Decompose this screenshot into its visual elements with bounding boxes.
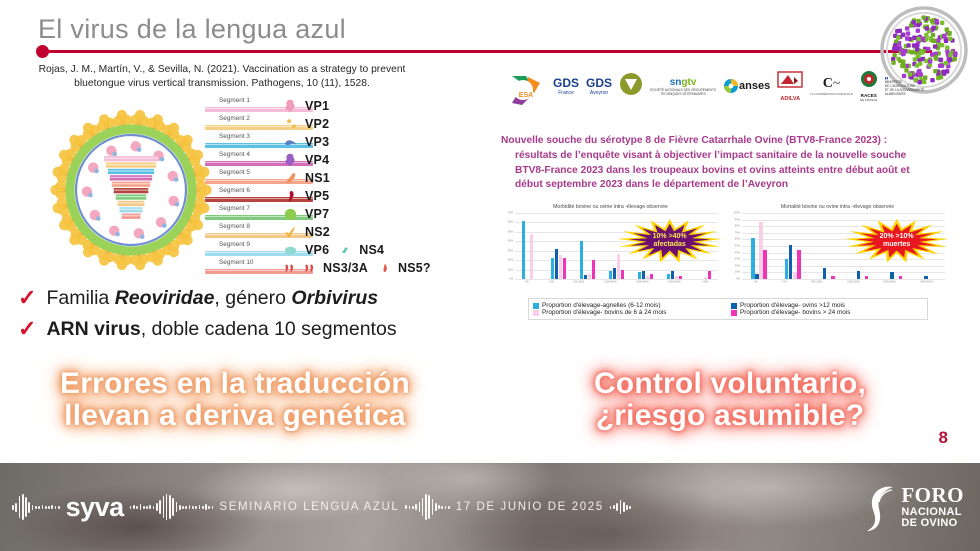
protein-row: VP3	[283, 133, 483, 151]
page-title: El virus de la lengua azul	[38, 14, 346, 45]
protein-vp5-icon	[283, 189, 298, 204]
bar	[890, 272, 894, 279]
waveform-bar	[130, 506, 132, 509]
x-tick-label: [30%;40%[	[921, 280, 933, 291]
legend-swatch	[731, 310, 737, 316]
chart-1: Morbidité bovine ou ovine intra -élevage…	[501, 204, 720, 292]
bar	[559, 255, 563, 280]
bar	[530, 234, 534, 279]
protein-name: VP1	[305, 99, 329, 113]
report-title: Nouvelle souche du sérotype 8 de Fièvre …	[501, 134, 947, 193]
y-tick-label: 10%	[735, 271, 740, 274]
waveform-bar	[38, 506, 40, 509]
title-divider	[42, 50, 932, 53]
bar	[642, 271, 646, 279]
waveform-bar	[613, 505, 615, 509]
legend-label: Proportion d'élevage- bovins de 6 à 24 m…	[542, 309, 667, 316]
logo-row: ESAGDSFranceGDSAveyronsngtvSOCIÉTÉ NATIO…	[506, 64, 946, 108]
bullet-item: ✓Familia Reoviridae, género Orbivirus	[18, 286, 397, 310]
annotation-line-1: 10% >40%	[653, 233, 687, 241]
segment-label: Segment 5	[219, 169, 250, 176]
protein-name: VP7	[305, 207, 329, 221]
waveform-bar	[409, 506, 411, 509]
foro-line-1: FORO	[901, 485, 964, 506]
protein-row: VP6NS4	[283, 241, 483, 259]
annotation-text: 10% >40%afectadas	[653, 233, 687, 250]
headline-left-line-2: llevan a deriva genética	[20, 400, 450, 432]
waveform-bar	[55, 506, 57, 509]
bar	[613, 268, 617, 279]
protein-name: NS3/3A	[323, 261, 368, 275]
protein-ns3-3a-icon	[303, 262, 316, 275]
legend-label: Proportion d'élevage- bovins > 24 mois	[740, 309, 850, 316]
chart-annotation-burst: 10% >40%afectadas	[615, 218, 725, 264]
y-tick-label: 20%	[735, 264, 740, 267]
bar-group	[551, 213, 567, 279]
y-tick-label: 70%	[508, 212, 513, 215]
x-tick-label: [10%;20%[	[604, 280, 616, 291]
report-title-line: BTV8-France 2023 dans les troupeaux bovi…	[501, 164, 947, 179]
waveform-bar	[140, 504, 142, 510]
segment-label: Segment 6	[219, 187, 250, 194]
legend-swatch	[533, 310, 539, 316]
bar	[592, 260, 596, 279]
y-tick-label: 50%	[735, 245, 740, 248]
chart-2: Mortalité bovine ou ovine intra -élevage…	[728, 204, 947, 292]
protein-ns2-icon	[283, 225, 298, 240]
waveform-bar	[12, 505, 14, 510]
waveform-bar	[208, 506, 210, 509]
anses-logo: anses	[723, 77, 770, 95]
legend-item: Proportion d'élevage- ovins >12 mois	[731, 302, 923, 309]
waveform-bar	[212, 506, 214, 509]
gds-france-logo: GDSFrance	[553, 76, 579, 96]
extra-protein-name: NS4	[359, 243, 384, 257]
bar	[609, 271, 613, 279]
x-tick-label: [20%;30%[	[884, 280, 896, 291]
annotation-line-2: afectadas	[653, 241, 687, 249]
legend-item: Proportion d'élevage- bovins de 6 à 24 m…	[533, 309, 725, 316]
chart-legend: Proportion d'élevage-agnelles (6-12 mois…	[528, 298, 928, 320]
chart-title: Morbidité bovine ou ovine intra -élevage…	[501, 204, 720, 210]
bar	[865, 276, 869, 279]
waveform-bar	[182, 506, 184, 509]
waveform-bar	[32, 505, 34, 510]
protein-vp6-icon	[283, 243, 298, 258]
waveform-bar	[19, 496, 21, 518]
waveform-bar	[35, 506, 37, 509]
waveform-bar	[133, 505, 135, 509]
legend-label: Proportion d'élevage-agnelles (6-12 mois…	[542, 302, 660, 309]
waveform-mid-2	[405, 492, 449, 522]
waveform-bar	[441, 506, 443, 509]
protein-row: NS2	[283, 223, 483, 241]
waveform-bar	[149, 505, 151, 509]
waveform-bar	[163, 496, 165, 518]
protein-name: VP2	[305, 117, 329, 131]
waveform-bar	[626, 505, 628, 510]
waveform-bar	[156, 503, 158, 511]
chart-annotation-burst: 20% >10%muertes	[842, 218, 952, 264]
protein-name: VP3	[305, 135, 329, 149]
protein-vp2-icon	[283, 117, 298, 132]
y-tick-label: 60%	[508, 221, 513, 224]
waveform-bar	[202, 506, 204, 509]
x-tick-label: 0%	[525, 280, 529, 291]
syva-logo: syva	[66, 492, 124, 523]
protein-vp7-icon	[283, 207, 298, 222]
headline-right-line-2: ¿riesgo asumible?	[530, 400, 930, 432]
bar	[671, 271, 675, 279]
protein-name: VP4	[305, 153, 329, 167]
virus-particle-diagram	[44, 98, 219, 283]
waveform-bar	[412, 506, 414, 509]
bar	[899, 276, 903, 279]
waveform-bar	[616, 503, 618, 511]
waveform-bar	[435, 503, 437, 511]
waveform-bar	[143, 506, 145, 509]
segment-label: Segment 7	[219, 205, 250, 212]
waveform-bar	[629, 506, 631, 509]
protein-row: VP4	[283, 151, 483, 169]
check-icon: ✓	[18, 287, 36, 309]
y-tick-label: 90%	[735, 218, 740, 221]
bullet-item: ✓ARN virus, doble cadena 10 segmentos	[18, 317, 397, 341]
annotation-text: 20% >10%muertes	[880, 233, 914, 250]
report-title-line: résultats de l’enquête visant à objectiv…	[501, 149, 947, 164]
x-tick-label: [20%;30%[	[637, 280, 649, 291]
waveform-bar	[51, 505, 53, 509]
report-title-line: Nouvelle souche du sérotype 8 de Fièvre …	[501, 134, 947, 149]
x-axis: 0%< 5%[5%;10%[[10%;20%[[20%;30%[[30%;40%…	[742, 280, 945, 292]
bar-group	[522, 213, 538, 279]
headline-left-line-1: Errores en la traducción	[20, 368, 450, 400]
x-tick-label: > 60%	[701, 280, 708, 291]
protein-name: NS2	[305, 225, 330, 239]
segment-label: Segment 1	[219, 97, 250, 104]
bar	[797, 250, 801, 279]
waveform-bar	[179, 505, 181, 510]
bar	[793, 272, 797, 279]
ministere-logo: ▮▮MINISTÈREDE L'AGRICULTUREET DE LA SOUV…	[885, 76, 925, 96]
protein-row: VP7	[283, 205, 483, 223]
waveform-bar	[205, 504, 207, 510]
x-tick-label: < 5%	[782, 280, 788, 291]
bar	[551, 258, 555, 279]
legend-item: Proportion d'élevage-agnelles (6-12 mois…	[533, 302, 725, 309]
legend-swatch	[533, 303, 539, 309]
waveform-bar	[405, 505, 407, 509]
bullet-text: Familia Reoviridae, género Orbivirus	[46, 287, 378, 310]
citation: Rojas, J. M., Martín, V., & Sevilla, N. …	[22, 63, 422, 91]
waveform-bar	[428, 495, 430, 519]
y-tick-label: 80%	[735, 225, 740, 228]
legend-swatch	[731, 303, 737, 309]
legend-row: Proportion d'élevage-agnelles (6-12 mois…	[533, 302, 923, 309]
bar	[704, 277, 708, 279]
waveform-bar	[22, 494, 24, 520]
chart-row: Morbidité bovine ou ovine intra -élevage…	[501, 204, 947, 294]
x-tick-label: [40%;50%[	[669, 280, 681, 291]
waveform-bar	[28, 502, 30, 513]
report-title-line: début septembre 2023 dans le département…	[501, 178, 947, 193]
bar	[759, 222, 763, 279]
bullet-text: ARN virus, doble cadena 10 segmentos	[46, 318, 396, 341]
waveform-bar	[169, 495, 171, 519]
protein-vp1-icon	[283, 99, 298, 114]
bar-group	[785, 213, 801, 279]
bar-group	[819, 213, 835, 279]
bar	[563, 258, 567, 279]
x-tick-label: [10%;20%[	[847, 280, 859, 291]
waveform-bar	[25, 497, 27, 517]
waveform-bar	[189, 505, 191, 509]
bar	[751, 238, 755, 279]
waveform-bar	[136, 506, 138, 509]
annotation-line-2: muertes	[880, 241, 914, 249]
bar	[667, 274, 671, 279]
protein-vp4-icon	[283, 153, 298, 168]
annotation-line-1: 20% >10%	[880, 233, 914, 241]
y-axis: 0%10%20%30%40%50%60%70%	[501, 213, 514, 279]
bar	[522, 221, 526, 279]
protein-ns4-icon	[340, 244, 352, 256]
y-tick-label: 40%	[735, 251, 740, 254]
protein-ns5--icon	[379, 262, 391, 274]
protein-vp3-icon	[283, 135, 298, 150]
bar	[584, 275, 588, 279]
check-icon: ✓	[18, 318, 36, 340]
waveform-bar	[620, 500, 622, 514]
bar	[924, 276, 928, 279]
waveform-bar	[45, 506, 47, 509]
protein-ns1-icon	[283, 171, 298, 186]
waveform-bar	[185, 506, 187, 509]
sngtv-logo: sngtvSOCIÉTÉ NATIONALE DES GROUPEMENTSTE…	[650, 77, 716, 96]
races-de-france-logo: RACESDE FRANCE	[860, 70, 878, 102]
waveform-bar	[199, 505, 201, 509]
citation-line-1: Rojas, J. M., Martín, V., & Sevilla, N. …	[39, 64, 406, 75]
protein-row: VP5	[283, 187, 483, 205]
x-tick-label: [5%;10%[	[812, 280, 823, 291]
waveform-bar	[448, 506, 450, 509]
segment-label: Segment 2	[219, 115, 250, 122]
waveform-bar	[195, 506, 197, 509]
waveform-bar	[432, 499, 434, 515]
protein-row: NS1	[283, 169, 483, 187]
bar	[679, 276, 683, 279]
bar	[555, 249, 559, 279]
bar	[638, 272, 642, 279]
bar	[580, 241, 584, 279]
bar	[785, 259, 789, 279]
waveform-bar	[445, 506, 447, 509]
waveform-bar	[192, 506, 194, 509]
segment-label: Segment 10	[219, 259, 253, 266]
y-axis: 0%10%20%30%40%50%60%70%80%90%100%	[728, 213, 741, 279]
waveform-bar	[438, 505, 440, 509]
bar	[588, 274, 592, 279]
waveform-bar	[176, 502, 178, 512]
slide: El virus de la lengua azul Rojas, J. M.,…	[0, 0, 980, 551]
bar	[675, 276, 679, 279]
bullet-list: ✓Familia Reoviridae, género Orbivirus✓AR…	[18, 286, 397, 348]
bar	[831, 276, 835, 279]
bar	[857, 271, 861, 279]
bar	[650, 274, 654, 279]
report-panel: ESAGDSFranceGDSAveyronsngtvSOCIÉTÉ NATIO…	[496, 62, 948, 342]
waveform-bar	[166, 494, 168, 520]
footer-bar: syva SEMINARIO LENGUA AZUL 17 DE JUNIO D…	[0, 463, 980, 551]
y-tick-label: 0%	[509, 278, 513, 281]
bar	[823, 268, 827, 279]
legend-item: Proportion d'élevage- bovins > 24 mois	[731, 309, 923, 316]
headline-right-line-1: Control voluntario,	[530, 368, 930, 400]
title-divider-dot	[36, 45, 49, 58]
waveform-bar	[623, 502, 625, 512]
gds-aveyron-logo: GDSAveyron	[586, 76, 612, 96]
protein-name: VP6	[305, 243, 329, 257]
foro-line-3: DE OVINO	[901, 518, 964, 529]
segment-label: Segment 3	[219, 133, 250, 140]
footer-date: 17 DE JUNIO DE 2025	[456, 501, 604, 513]
bar	[708, 271, 712, 279]
x-tick-label: [5%;10%[	[574, 280, 585, 291]
bar	[621, 270, 625, 279]
waveform-right	[610, 492, 631, 522]
bar	[763, 250, 767, 279]
bar	[646, 276, 650, 279]
extra-protein-name: NS5?	[398, 261, 431, 275]
coop-logo: C~LA COOPÉRATION AGRICOLE	[810, 76, 852, 96]
protein-name: VP5	[305, 189, 329, 203]
y-tick-label: 50%	[508, 230, 513, 233]
y-tick-label: 40%	[508, 240, 513, 243]
protein-row: NS3/3ANS5?	[283, 259, 483, 277]
waveform-bar	[159, 500, 161, 514]
footer-event: SEMINARIO LENGUA AZUL	[219, 501, 399, 513]
foro-nacional-de-ovino-logo: FORO NACIONAL DE OVINO	[863, 481, 968, 533]
segment-label: Segment 4	[219, 151, 250, 158]
legend-row: Proportion d'élevage- bovins de 6 à 24 m…	[533, 309, 923, 316]
waveform-bar	[58, 506, 60, 509]
protein-name: NS1	[305, 171, 330, 185]
citation-line-2: bluetongue virus vertical transmission. …	[74, 78, 370, 89]
y-tick-label: 30%	[735, 258, 740, 261]
y-tick-label: 30%	[508, 249, 513, 252]
bar	[755, 274, 759, 279]
waveform-bar	[153, 506, 155, 509]
headline-left: Errores en la traducción llevan a deriva…	[20, 368, 450, 433]
sheep-icon	[863, 481, 897, 533]
v-logo	[619, 72, 643, 101]
y-tick-label: 10%	[508, 268, 513, 271]
chart-title: Mortalité bovine ou ovine intra -élevage…	[728, 204, 947, 210]
waveform-bar	[425, 494, 427, 520]
y-tick-label: 60%	[735, 238, 740, 241]
bar-group	[751, 213, 767, 279]
waveform-bar	[42, 505, 44, 509]
waveform-bar	[48, 506, 50, 509]
x-axis: 0%< 5%[5%;10%[[10%;20%[[20%;30%[[40%;50%…	[515, 280, 718, 292]
protein-row: VP1	[283, 97, 483, 115]
headline-right: Control voluntario, ¿riesgo asumible?	[530, 368, 930, 433]
x-tick-label: 0%	[754, 280, 758, 291]
waveform-left	[12, 492, 60, 522]
waveform-bar	[172, 498, 174, 516]
y-tick-label: 20%	[508, 259, 513, 262]
segment-label: Segment 9	[219, 241, 250, 248]
bar	[789, 245, 793, 279]
esa-logo: ESA	[506, 73, 546, 99]
x-tick-label: < 5%	[548, 280, 554, 291]
waveform-mid-1	[130, 492, 214, 522]
legend-label: Proportion d'élevage- ovins >12 mois	[740, 302, 845, 309]
adilva-logo: ADILVA	[777, 71, 803, 102]
y-tick-label: 70%	[735, 231, 740, 234]
waveform-bar	[419, 502, 421, 512]
protein-row: VP2	[283, 115, 483, 133]
waveform-bar	[422, 498, 424, 516]
segment-label: Segment 8	[219, 223, 250, 230]
y-tick-label: 100%	[733, 212, 740, 215]
bar-group	[580, 213, 596, 279]
waveform-bar	[415, 504, 417, 510]
y-tick-label: 0%	[736, 278, 740, 281]
waveform-bar	[610, 506, 612, 509]
page-number: 8	[939, 428, 948, 448]
waveform-bar	[15, 503, 17, 512]
waveform-bar	[146, 506, 148, 509]
protein-legend: VP1VP2VP3VP4NS1VP5VP7NS2VP6NS4NS3/3ANS5?	[283, 97, 483, 277]
